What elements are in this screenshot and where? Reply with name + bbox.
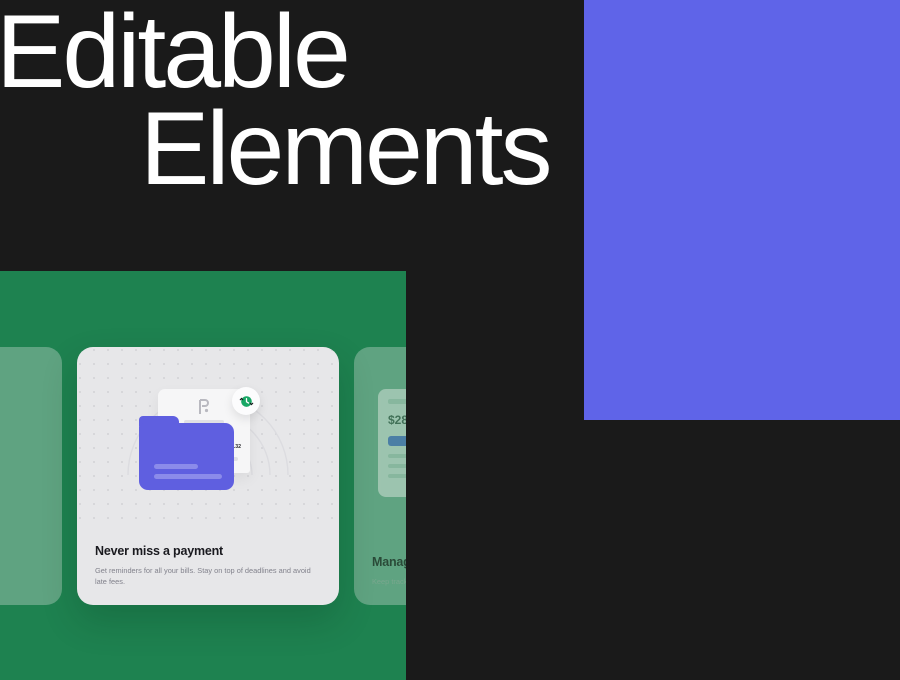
statement-amount: $28 <box>388 413 406 427</box>
statement-bar <box>388 399 406 404</box>
green-card-center-title: Never miss a payment <box>95 544 321 558</box>
green-card-cropped-left[interactable]: . Stay within <box>0 347 62 605</box>
folder-line <box>154 464 198 469</box>
statement-bar <box>388 464 406 468</box>
statement-bar <box>388 474 406 478</box>
hero-section: Editable Elements <box>0 0 584 271</box>
green-card-right-title: Manage <box>372 555 406 569</box>
green-card-right-description: Keep track o whole family <box>372 576 406 587</box>
canvas: Editable Elements <box>0 0 900 680</box>
green-card-left-description: . Stay within <box>0 576 44 587</box>
folder-line <box>154 474 222 479</box>
green-card-never-miss-payment[interactable]: $54.32 Never m <box>77 347 339 605</box>
green-card-center-body: Never miss a payment Get reminders for a… <box>77 544 339 587</box>
folder-icon <box>139 423 234 490</box>
green-card-cropped-right[interactable]: $28 Manage Keep track o whole family <box>354 347 406 605</box>
purple-showcase-panel: $18,890.10 USA Brazil <box>584 0 900 420</box>
green-card-right-body: Manage Keep track o whole family <box>354 555 406 587</box>
hero-headline-line-2: Elements <box>140 99 550 199</box>
green-card-center-description: Get reminders for all your bills. Stay o… <box>95 565 321 587</box>
receipt-logo-icon <box>198 399 210 415</box>
statement-highlight-bar <box>388 436 406 446</box>
hero-headline-line-1: Editable <box>0 2 348 102</box>
statement-icon: $28 <box>378 389 406 497</box>
green-showcase-panel: . Stay within $28 Manage Keep track o wh… <box>0 271 406 680</box>
reminder-clock-icon[interactable] <box>232 387 260 415</box>
statement-bar <box>388 454 406 458</box>
clock-arrows-icon <box>238 393 255 410</box>
green-card-left-body: . Stay within <box>0 569 62 587</box>
folder-receipt-icon: $54.32 <box>77 355 339 535</box>
